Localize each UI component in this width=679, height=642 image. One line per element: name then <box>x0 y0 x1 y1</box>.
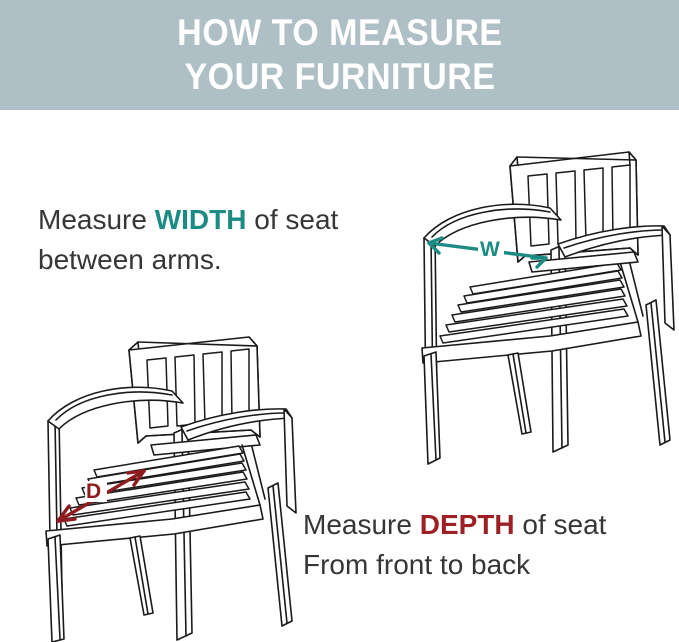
depth-instruction-line-2: From front to back <box>303 545 606 585</box>
depth-text-before: Measure <box>303 509 420 540</box>
width-keyword: WIDTH <box>155 204 247 235</box>
header-banner: HOW TO MEASURE YOUR FURNITURE <box>0 0 679 110</box>
chair-illustration-depth: D <box>22 325 312 642</box>
width-text-before: Measure <box>38 204 155 235</box>
width-instruction-line-1: Measure WIDTH of seat <box>38 200 338 240</box>
header-title-line-2: YOUR FURNITURE <box>184 55 495 99</box>
depth-keyword: DEPTH <box>420 509 515 540</box>
width-instruction-text: Measure WIDTH of seat between arms. <box>38 200 338 280</box>
depth-instruction-line-1: Measure DEPTH of seat <box>303 505 606 545</box>
width-instruction-line-2: between arms. <box>38 240 338 280</box>
depth-text-after: of seat <box>515 509 607 540</box>
width-measure-label: W <box>480 238 500 261</box>
chair-illustration-width: W <box>398 140 679 470</box>
depth-instruction-text: Measure DEPTH of seat From front to back <box>303 505 606 585</box>
depth-measure-label: D <box>86 480 101 503</box>
width-text-after: of seat <box>246 204 338 235</box>
header-title-line-1: HOW TO MEASURE <box>177 11 502 55</box>
